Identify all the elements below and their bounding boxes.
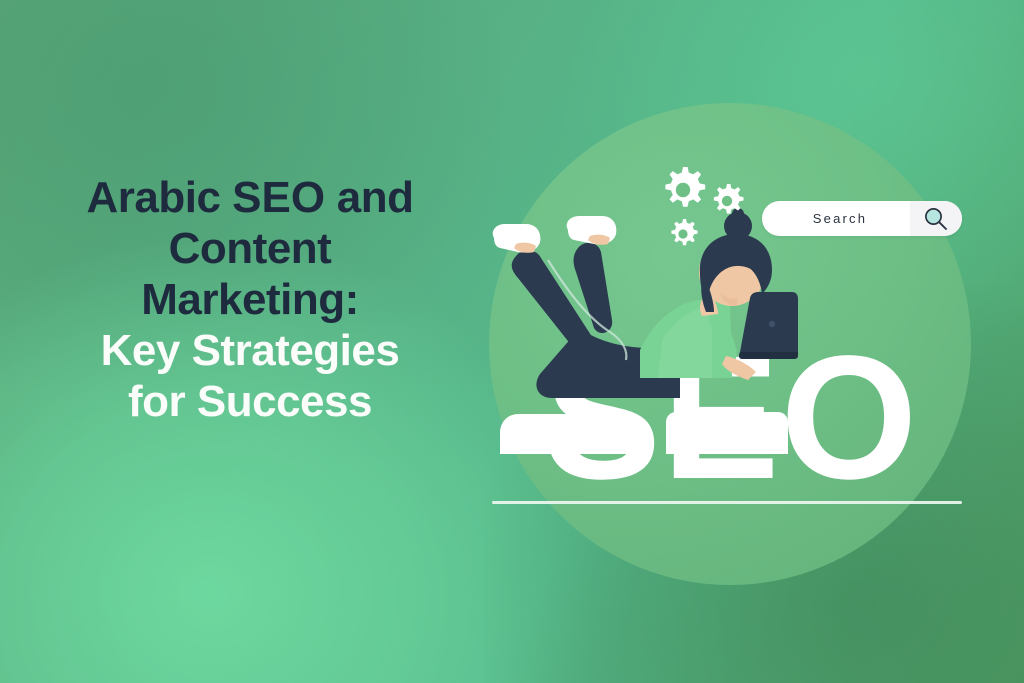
- headline-part-2: and: [325, 173, 413, 222]
- page-title: Arabic SEO and Content Marketing: Key St…: [0, 172, 500, 427]
- headline-line-2: Content: [0, 223, 500, 274]
- search-bar[interactable]: Search: [762, 201, 962, 236]
- headline-line-4: Key Strategies: [0, 325, 500, 376]
- gear-icon-large: [660, 167, 706, 213]
- gear-icon-small: [668, 219, 698, 249]
- headline-line-5: for Success: [0, 376, 500, 427]
- search-input[interactable]: Search: [762, 211, 910, 226]
- search-button[interactable]: [910, 201, 962, 236]
- hero-seo-underline: [492, 501, 962, 504]
- headline-emphasis-seo: SEO: [232, 173, 325, 222]
- laptop-icon: [726, 290, 806, 360]
- gear-icon-medium: [710, 184, 744, 218]
- headline-part-1: Arabic: [86, 173, 232, 222]
- headline-line-1: Arabic SEO and: [0, 172, 500, 223]
- headline-line-3: Marketing:: [0, 274, 500, 325]
- magnifier-icon: [923, 206, 949, 232]
- seo-banner-image: Arabic SEO and Content Marketing: Key St…: [0, 0, 1024, 683]
